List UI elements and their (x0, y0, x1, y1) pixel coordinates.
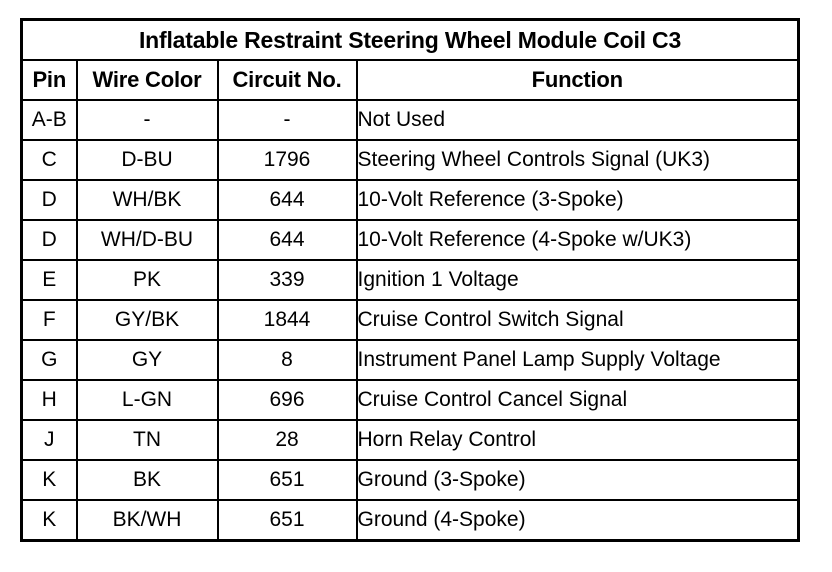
cell-pin: A-B (22, 100, 77, 140)
table-row: E PK 339 Ignition 1 Voltage (22, 260, 799, 300)
table-row: K BK/WH 651 Ground (4-Spoke) (22, 500, 799, 541)
cell-function: Ignition 1 Voltage (357, 260, 799, 300)
cell-function: Not Used (357, 100, 799, 140)
column-header-pin: Pin (22, 60, 77, 100)
cell-wire-color: WH/D-BU (77, 220, 218, 260)
cell-pin: J (22, 420, 77, 460)
table-row: A-B - - Not Used (22, 100, 799, 140)
cell-wire-color: BK/WH (77, 500, 218, 541)
cell-function: Cruise Control Cancel Signal (357, 380, 799, 420)
cell-pin: H (22, 380, 77, 420)
cell-wire-color: - (77, 100, 218, 140)
cell-pin: D (22, 220, 77, 260)
cell-function: Instrument Panel Lamp Supply Voltage (357, 340, 799, 380)
cell-function: 10-Volt Reference (3-Spoke) (357, 180, 799, 220)
cell-circuit-no: 339 (218, 260, 357, 300)
cell-circuit-no: 1844 (218, 300, 357, 340)
cell-circuit-no: 651 (218, 500, 357, 541)
table-row: G GY 8 Instrument Panel Lamp Supply Volt… (22, 340, 799, 380)
cell-wire-color: GY (77, 340, 218, 380)
table-row: H L-GN 696 Cruise Control Cancel Signal (22, 380, 799, 420)
cell-circuit-no: - (218, 100, 357, 140)
cell-pin: C (22, 140, 77, 180)
cell-function: Horn Relay Control (357, 420, 799, 460)
cell-circuit-no: 696 (218, 380, 357, 420)
cell-pin: G (22, 340, 77, 380)
cell-pin: F (22, 300, 77, 340)
cell-function: 10-Volt Reference (4-Spoke w/UK3) (357, 220, 799, 260)
cell-wire-color: BK (77, 460, 218, 500)
table-row: K BK 651 Ground (3-Spoke) (22, 460, 799, 500)
table-row: C D-BU 1796 Steering Wheel Controls Sign… (22, 140, 799, 180)
cell-wire-color: WH/BK (77, 180, 218, 220)
cell-pin: K (22, 460, 77, 500)
table-row: J TN 28 Horn Relay Control (22, 420, 799, 460)
connector-pinout-table: Inflatable Restraint Steering Wheel Modu… (20, 18, 800, 542)
table-row: D WH/BK 644 10-Volt Reference (3-Spoke) (22, 180, 799, 220)
cell-function: Cruise Control Switch Signal (357, 300, 799, 340)
cell-pin: K (22, 500, 77, 541)
cell-wire-color: GY/BK (77, 300, 218, 340)
cell-pin: E (22, 260, 77, 300)
cell-circuit-no: 8 (218, 340, 357, 380)
cell-wire-color: TN (77, 420, 218, 460)
cell-function: Steering Wheel Controls Signal (UK3) (357, 140, 799, 180)
table-title: Inflatable Restraint Steering Wheel Modu… (22, 20, 799, 61)
column-header-function: Function (357, 60, 799, 100)
table-title-row: Inflatable Restraint Steering Wheel Modu… (22, 20, 799, 61)
table-row: F GY/BK 1844 Cruise Control Switch Signa… (22, 300, 799, 340)
cell-circuit-no: 644 (218, 180, 357, 220)
cell-circuit-no: 28 (218, 420, 357, 460)
pinout-table-body: Inflatable Restraint Steering Wheel Modu… (22, 20, 799, 541)
column-header-wire-color: Wire Color (77, 60, 218, 100)
cell-pin: D (22, 180, 77, 220)
column-header-circuit-no: Circuit No. (218, 60, 357, 100)
table-row: D WH/D-BU 644 10-Volt Reference (4-Spoke… (22, 220, 799, 260)
table-header-row: Pin Wire Color Circuit No. Function (22, 60, 799, 100)
cell-circuit-no: 644 (218, 220, 357, 260)
cell-function: Ground (4-Spoke) (357, 500, 799, 541)
cell-wire-color: PK (77, 260, 218, 300)
cell-wire-color: L-GN (77, 380, 218, 420)
cell-circuit-no: 1796 (218, 140, 357, 180)
cell-function: Ground (3-Spoke) (357, 460, 799, 500)
pinout-table-container: Inflatable Restraint Steering Wheel Modu… (20, 18, 800, 542)
cell-wire-color: D-BU (77, 140, 218, 180)
cell-circuit-no: 651 (218, 460, 357, 500)
